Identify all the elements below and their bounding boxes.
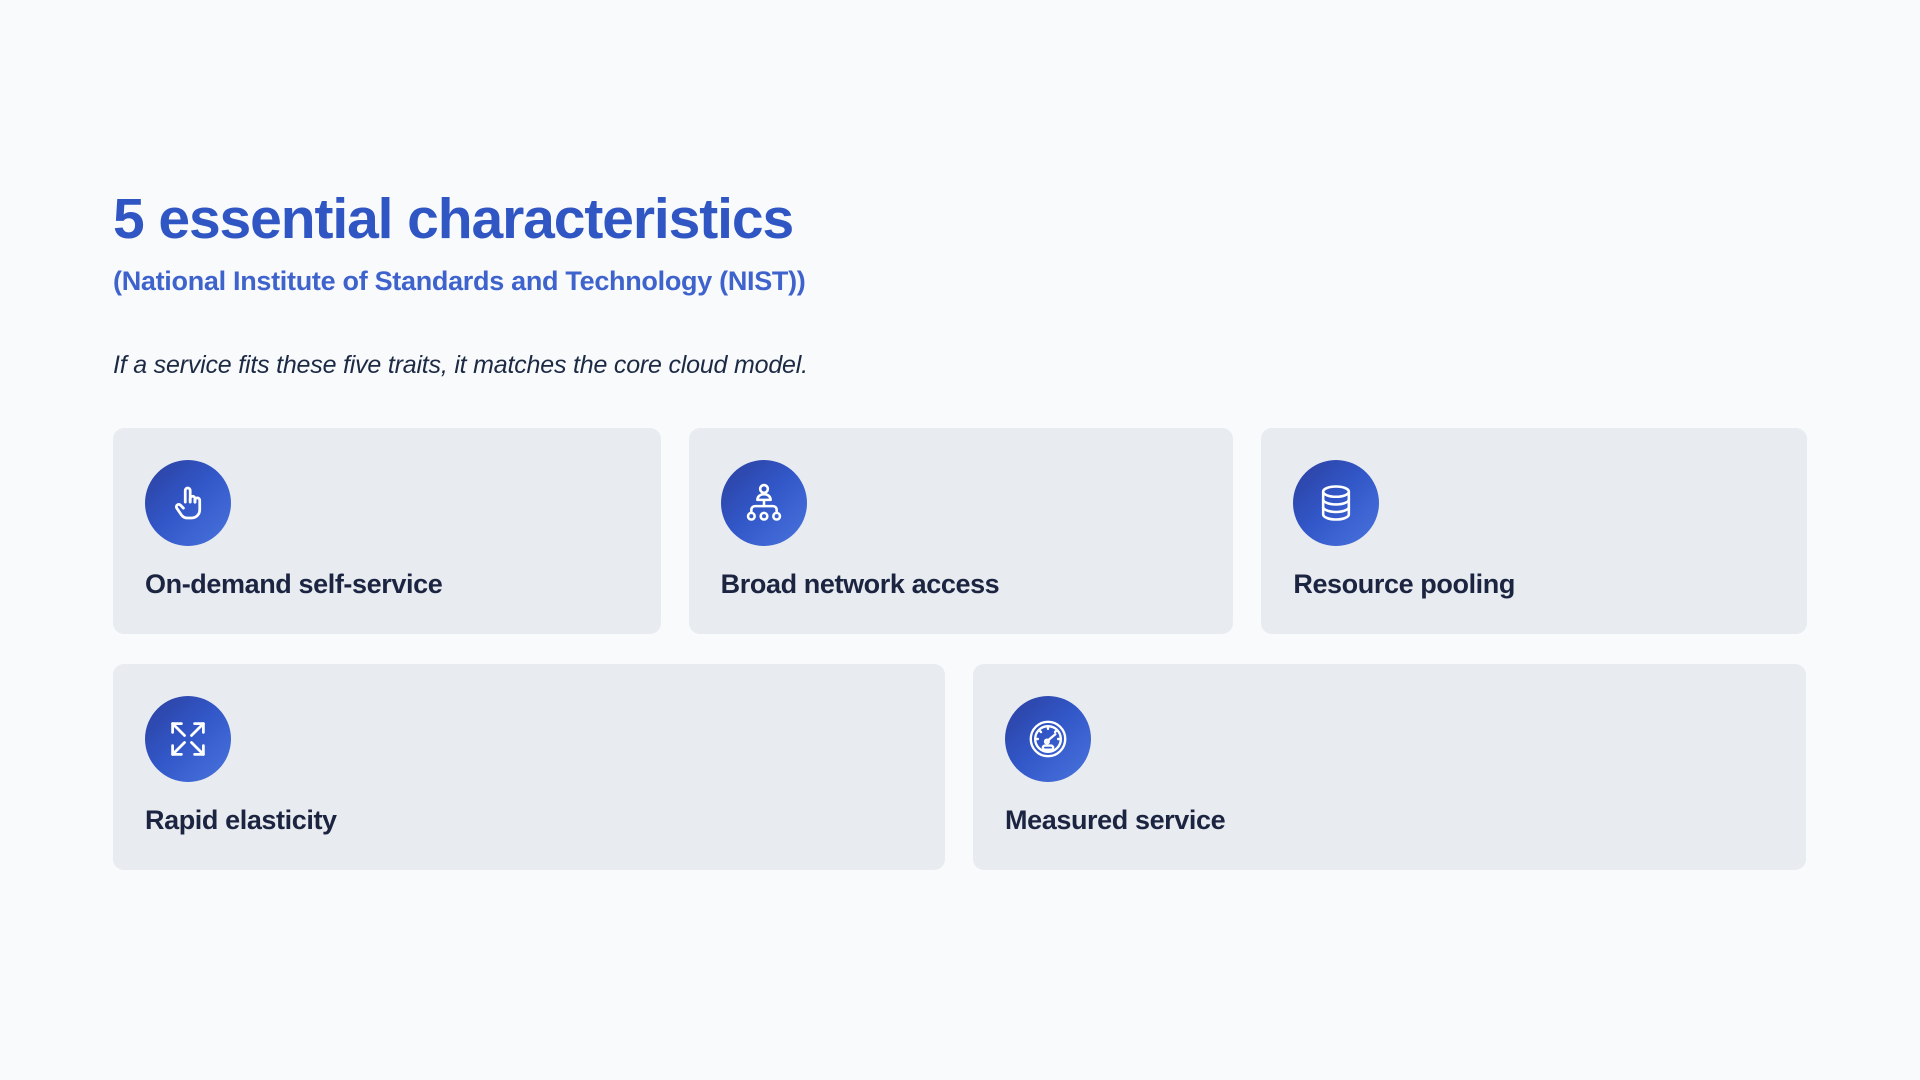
card-label: On-demand self-service xyxy=(145,569,629,600)
card-label: Resource pooling xyxy=(1293,569,1775,600)
characteristics-row-2: Rapid elasticity Measured service xyxy=(113,664,1807,870)
database-stack-icon xyxy=(1293,460,1379,546)
page-title: 5 essential characteristics xyxy=(113,190,1807,250)
pointing-hand-icon xyxy=(145,460,231,546)
characteristics-row-1: On-demand self-service Broad network acc… xyxy=(113,428,1807,634)
card-label: Measured service xyxy=(1005,805,1774,836)
card-label: Rapid elasticity xyxy=(145,805,913,836)
page-subtitle: (National Institute of Standards and Tec… xyxy=(113,266,1807,297)
lead-note: If a service fits these five traits, it … xyxy=(113,351,1807,380)
expand-arrows-icon xyxy=(145,696,231,782)
card-label: Broad network access xyxy=(721,569,1202,600)
characteristic-card-resource-pooling[interactable]: Resource pooling xyxy=(1261,428,1807,634)
gauge-meter-icon xyxy=(1005,696,1091,782)
characteristic-card-rapid-elasticity[interactable]: Rapid elasticity xyxy=(113,664,945,870)
characteristic-card-measured-service[interactable]: Measured service xyxy=(973,664,1806,870)
network-hierarchy-icon xyxy=(721,460,807,546)
slide-root: 5 essential characteristics (National In… xyxy=(0,0,1920,1080)
characteristic-card-on-demand-self-service[interactable]: On-demand self-service xyxy=(113,428,661,634)
characteristic-card-broad-network-access[interactable]: Broad network access xyxy=(689,428,1234,634)
